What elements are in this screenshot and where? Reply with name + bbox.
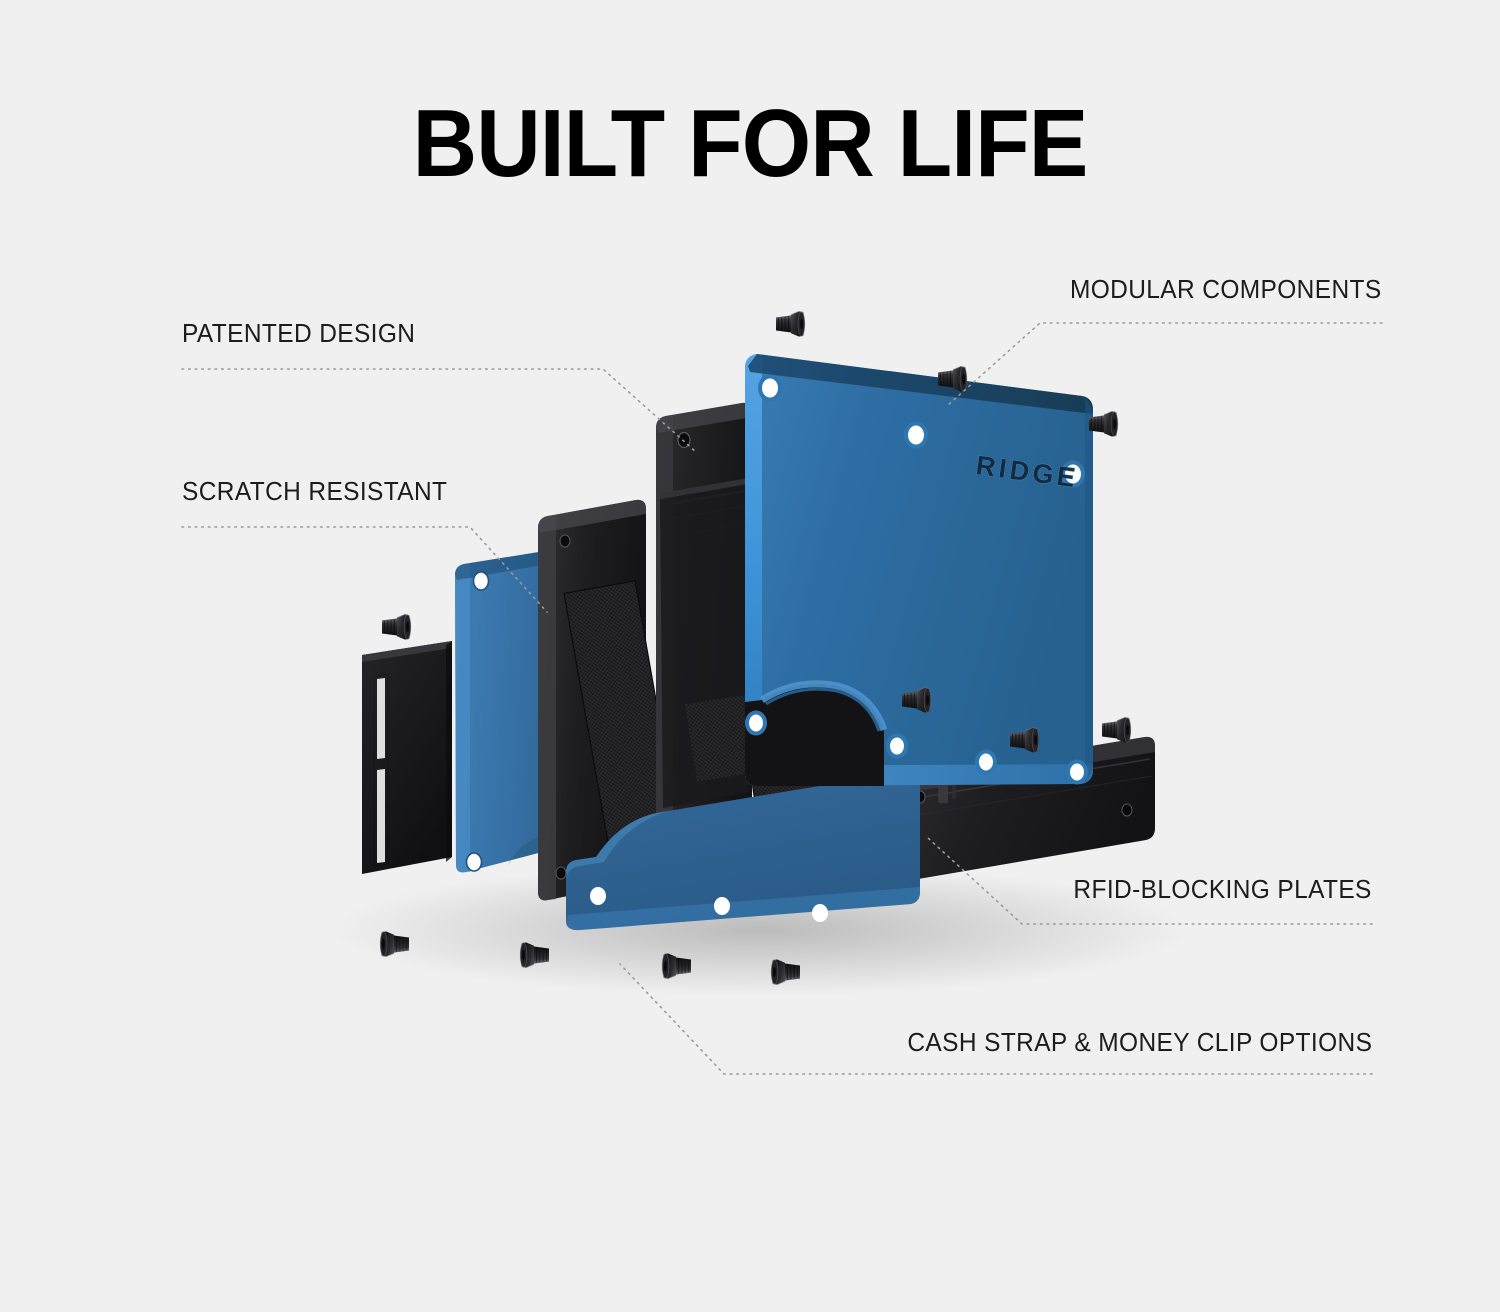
drop-shadow: [330, 864, 1190, 996]
leader-patented-design: [182, 369, 696, 452]
component-rfid-plate: [685, 437, 1155, 884]
callout-label-patented-design: PATENTED DESIGN: [182, 322, 415, 348]
product-diagram: BUILT FOR LIFE: [0, 0, 1500, 1312]
callout-leader-lines: [182, 323, 1382, 1074]
component-front-blue-plate: RIDGE: [745, 354, 1093, 786]
callout-label-scratch-resistant: SCRATCH RESISTANT: [182, 480, 447, 506]
component-money-clip: [362, 641, 452, 874]
component-inner-black-plate: [656, 403, 752, 858]
callout-label-modular-components: MODULAR COMPONENTS: [1070, 278, 1382, 304]
page-title: BUILT FOR LIFE: [53, 96, 1448, 192]
component-rear-blue-plate: [455, 551, 554, 872]
ridge-engraving: RIDGE: [974, 450, 1080, 493]
component-cash-strap-plate: [538, 500, 684, 900]
component-bottom-blue-plate: [566, 771, 920, 930]
screws-group: [380, 311, 1130, 984]
callout-label-rfid-blocking-plates: RFID-BLOCKING PLATES: [1074, 878, 1372, 904]
leader-scratch-resistant: [182, 527, 547, 612]
front-plate-screw-holes: [747, 377, 1086, 783]
callout-label-cash-strap-money-clip: CASH STRAP & MONEY CLIP OPTIONS: [907, 1031, 1372, 1057]
leader-modular-components: [947, 323, 1382, 406]
leader-cash-strap: [620, 964, 1372, 1074]
